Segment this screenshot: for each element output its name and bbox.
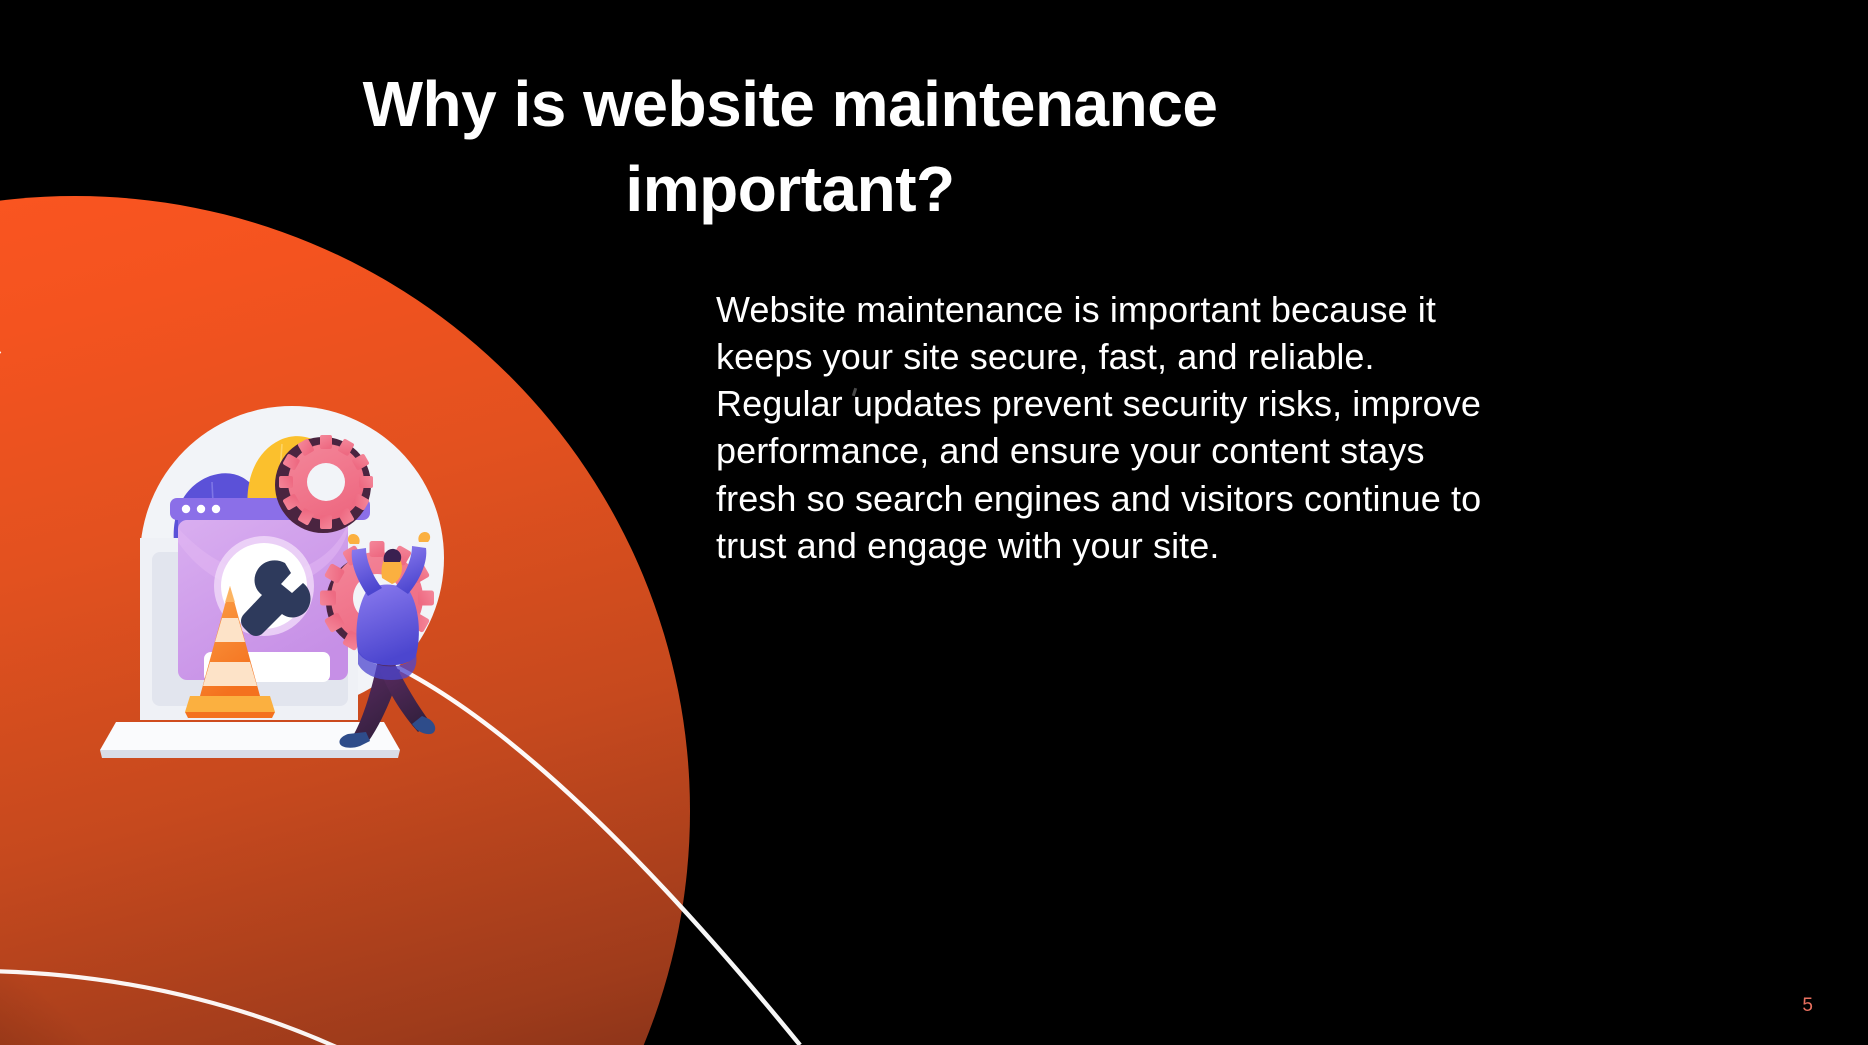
browser-dot-2	[197, 505, 205, 513]
website-maintenance-illustration	[82, 330, 512, 760]
slide-root: Why is website maintenance important? We…	[0, 0, 1868, 1045]
body-paragraph: Website maintenance is important because…	[716, 286, 1506, 569]
page-number: 5	[1802, 995, 1813, 1017]
browser-dot-3	[212, 505, 220, 513]
page-title: Why is website maintenance important?	[320, 62, 1260, 232]
person-torso	[356, 585, 418, 666]
browser-dot-1	[182, 505, 190, 513]
